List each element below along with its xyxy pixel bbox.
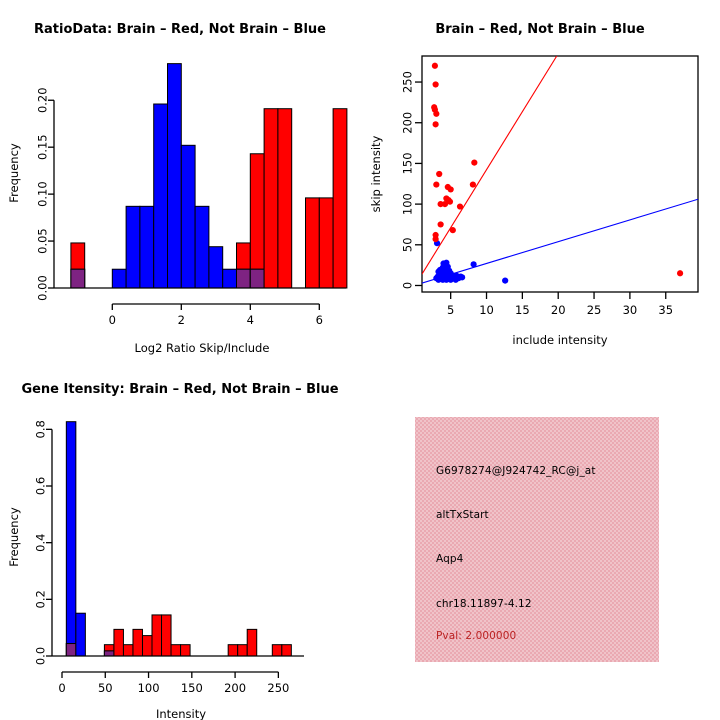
histogram-bar-red xyxy=(171,645,181,656)
scatter-point xyxy=(433,121,439,127)
x-axis-tick-label: 2 xyxy=(178,313,185,327)
panel-intensity-scatter: Brain – Red, Not Brain – Blue 0501001502… xyxy=(360,0,720,360)
x-axis-tick-label: 25 xyxy=(587,303,602,317)
x-axis-tick-label: 10 xyxy=(479,303,494,317)
histogram-bar-red xyxy=(133,629,143,656)
histogram-bar-blue xyxy=(168,64,182,288)
x-axis-tick-label: 50 xyxy=(98,681,113,695)
histogram-bar-red xyxy=(278,109,292,288)
info-gene-symbol: Aqp4 xyxy=(436,553,463,565)
x-axis-tick-label: 35 xyxy=(658,303,673,317)
gene-info-box: G6978274@J924742_RC@j_at altTxStart Aqp4… xyxy=(415,417,659,662)
x-axis-title: Intensity xyxy=(156,707,206,720)
y-axis-tick-label: 0.0 xyxy=(34,647,48,665)
histogram-bar-red xyxy=(152,615,162,656)
histogram-bar-blue xyxy=(112,269,126,288)
gene-histogram-plot: 0.00.20.40.60.8050100150200250IntensityF… xyxy=(0,360,360,720)
panel-ratio-histogram: RatioData: Brain – Red, Not Brain – Blue… xyxy=(0,0,360,360)
x-axis-tick-label: 5 xyxy=(447,303,454,317)
scatter-point xyxy=(433,236,439,242)
y-axis-title: Frequency xyxy=(7,507,21,567)
y-axis-tick-label: 0.6 xyxy=(34,477,48,495)
scatter-inner xyxy=(422,56,698,284)
x-axis-title: Log2 Ratio Skip/Include xyxy=(135,341,270,355)
histogram-bar-red xyxy=(264,109,278,288)
intensity-scatter-plot: 0501001502002505101520253035include inte… xyxy=(360,0,720,360)
scatter-point xyxy=(453,277,459,283)
figure-canvas: RatioData: Brain – Red, Not Brain – Blue… xyxy=(0,0,720,720)
x-axis-tick-label: 250 xyxy=(267,681,289,695)
y-axis-tick-label: 0.10 xyxy=(36,181,50,207)
histogram-bar-blue xyxy=(76,613,86,656)
scatter-point xyxy=(448,186,454,192)
regression-line xyxy=(422,56,557,274)
histogram-bar-blue xyxy=(209,247,223,288)
ratio-plot-group: 0.000.050.100.150.200246Log2 Ratio Skip/… xyxy=(7,64,347,355)
y-axis-tick-label: 0.2 xyxy=(34,590,48,608)
scatter-point xyxy=(433,81,439,87)
regression-line xyxy=(422,199,698,283)
x-axis-tick-label: 15 xyxy=(515,303,530,317)
y-axis-title: Frequency xyxy=(7,143,21,203)
scatter-point xyxy=(457,203,463,209)
scatter-point xyxy=(471,261,477,267)
scatter-point xyxy=(471,160,477,166)
y-axis-tick-label: 0.4 xyxy=(34,534,48,552)
histogram-bar-red xyxy=(306,198,320,288)
scatter-point xyxy=(436,171,442,177)
histogram-bar-red xyxy=(250,154,264,288)
y-axis-tick-label: 0.15 xyxy=(36,134,50,160)
scatter-point xyxy=(677,270,683,276)
x-axis-tick-label: 6 xyxy=(316,313,323,327)
histogram-bar-overlap xyxy=(250,269,264,288)
info-locus: chr18.11897-4.12 xyxy=(436,598,532,610)
scatter-plot-group: 0501001502002505101520253035include inte… xyxy=(369,56,698,347)
scatter-point xyxy=(433,181,439,187)
y-axis-tick-label: 250 xyxy=(401,71,415,93)
scatter-point xyxy=(438,201,444,207)
y-axis-tick-label: 50 xyxy=(401,237,415,252)
x-axis-tick-label: 0 xyxy=(109,313,116,327)
scatter-point xyxy=(438,221,444,227)
x-axis-tick-label: 20 xyxy=(551,303,566,317)
histogram-bar-blue xyxy=(223,269,237,288)
histogram-bar-blue xyxy=(140,206,154,288)
panel-gene-histogram: Gene Itensity: Brain – Red, Not Brain – … xyxy=(0,360,360,720)
x-axis-tick-label: 200 xyxy=(224,681,246,695)
histogram-bar-blue xyxy=(154,104,168,288)
histogram-bar-overlap xyxy=(71,269,85,288)
x-axis-tick-label: 100 xyxy=(138,681,160,695)
histogram-bar-red xyxy=(123,645,133,656)
y-axis-tick-label: 0.05 xyxy=(36,228,50,254)
y-axis-title: skip intensity xyxy=(369,135,383,212)
x-axis-tick-label: 0 xyxy=(58,681,65,695)
histogram-bar-blue xyxy=(126,206,140,288)
scatter-point xyxy=(502,278,508,284)
x-axis-title: include intensity xyxy=(512,333,607,347)
histogram-bar-red xyxy=(272,645,282,656)
histogram-bar-red xyxy=(142,636,152,656)
plot-frame xyxy=(422,56,698,292)
histogram-bar-blue xyxy=(66,422,76,656)
x-axis-tick-label: 4 xyxy=(247,313,254,327)
histogram-bar-overlap xyxy=(66,644,76,656)
y-axis-tick-label: 200 xyxy=(401,112,415,134)
ratio-histogram-plot: 0.000.050.100.150.200246Log2 Ratio Skip/… xyxy=(0,0,360,360)
histogram-bar-red xyxy=(114,629,124,656)
histogram-bar-red xyxy=(228,645,238,656)
y-axis-tick-label: 150 xyxy=(401,152,415,174)
histogram-bar-blue xyxy=(195,206,209,288)
y-axis-tick-label: 100 xyxy=(401,193,415,215)
x-axis-tick-label: 30 xyxy=(623,303,638,317)
histogram-bar-overlap xyxy=(104,651,114,656)
histogram-bar-red xyxy=(181,645,191,656)
info-probe-id: G6978274@J924742_RC@j_at xyxy=(436,465,596,477)
histogram-bar-red xyxy=(333,109,347,288)
y-axis-tick-label: 0.00 xyxy=(36,275,50,301)
scatter-point xyxy=(433,111,439,117)
info-event-type: altTxStart xyxy=(436,509,489,521)
gene-plot-group: 0.00.20.40.60.8050100150200250IntensityF… xyxy=(7,420,304,720)
histogram-bar-red xyxy=(282,645,292,656)
histogram-bar-blue xyxy=(181,145,195,288)
info-pvalue: Pval: 2.000000 xyxy=(436,630,516,642)
histogram-bar-red xyxy=(162,615,172,656)
y-axis-tick-label: 0 xyxy=(401,282,415,289)
y-axis-tick-label: 0.20 xyxy=(36,87,50,113)
scatter-point xyxy=(432,63,438,69)
histogram-bar-red xyxy=(247,629,257,656)
panel-gene-info: G6978274@J924742_RC@j_at altTxStart Aqp4… xyxy=(360,360,720,720)
histogram-bar-red xyxy=(319,198,333,288)
histogram-bar-red xyxy=(238,645,248,656)
scatter-point xyxy=(450,227,456,233)
x-axis-tick-label: 150 xyxy=(181,681,203,695)
histogram-bar-overlap xyxy=(237,269,251,288)
y-axis-tick-label: 0.8 xyxy=(34,420,48,438)
scatter-point xyxy=(470,181,476,187)
